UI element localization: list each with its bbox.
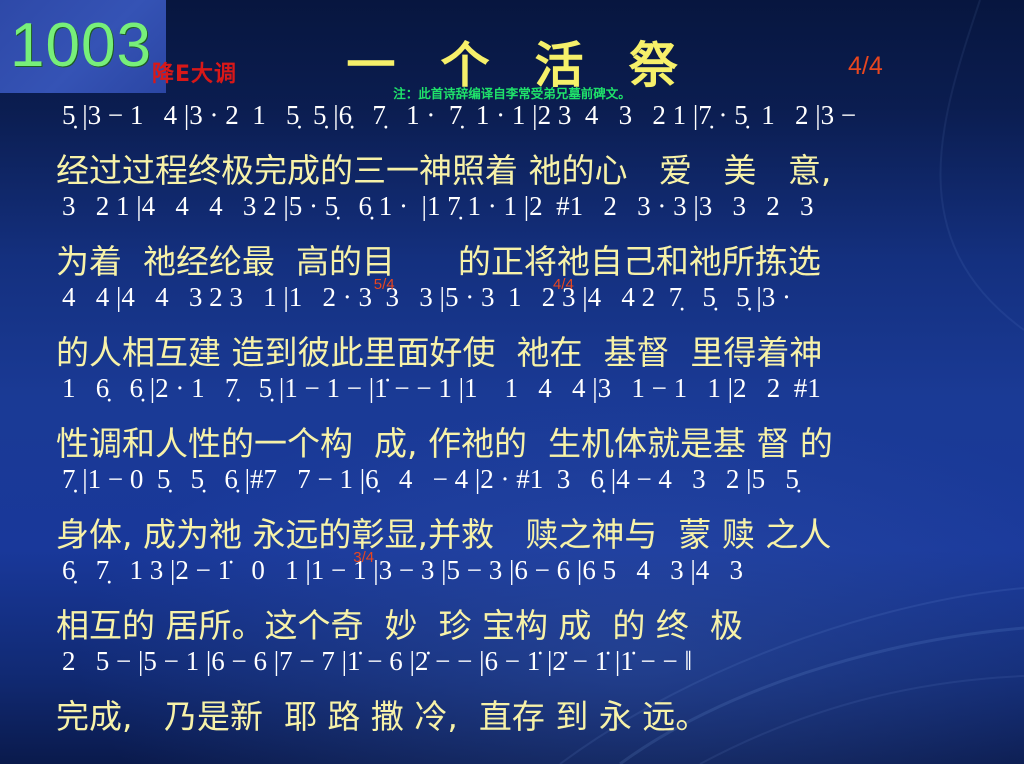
music-system: 6̣ 7̣ 1 3 |2 − 1̇ 0 1 |1 − 1 |3 − 3 |5 −… [0, 555, 1024, 646]
lyric-line: 完成, 乃是新 耶 路 撒 冷, 直存 到 永 远。 [0, 690, 1024, 737]
music-system: 3 2 1 |4 4 4 3 2 |5 · 5̣ 6̣ 1 · |1 7̣ 1 … [0, 191, 1024, 282]
lyric-line: 经过过程终极完成的三一神照着 祂的心 爱 美 意, [0, 144, 1024, 191]
meter-change-marker: 3/4 [353, 549, 374, 566]
lyric-line: 为着 祂经纶最 高的目 的正将祂自己和祂所拣选 [0, 235, 1024, 282]
notation-line: 7̣ |1 − 0 5̣ 5̣ 6̣ |#7 7 − 1 |6̣ 4 − 4 |… [0, 464, 1024, 508]
music-system: 7̣ |1 − 0 5̣ 5̣ 6̣ |#7 7 − 1 |6̣ 4 − 4 |… [0, 464, 1024, 555]
notation-line: 2 5 − |5 − 1 |6 − 6 |7 − 7 |1̇ − 6 |2̇ −… [0, 646, 1024, 690]
lyric-line: 身体, 成为祂 永远的彰显,并救 赎之神与 蒙 赎 之人 [0, 508, 1024, 555]
meter-change-marker: 5/4 [374, 276, 395, 293]
music-systems: 5̣ |3 − 1 4 |3 · 2 1 5̣ 5̣ |6̣ 7̣ 1 · 7̣… [0, 100, 1024, 737]
notation-line: 5̣ |3 − 1 4 |3 · 2 1 5̣ 5̣ |6̣ 7̣ 1 · 7̣… [0, 100, 1024, 144]
meter-change-marker: 4/4 [553, 276, 574, 293]
music-system: 4 4 |4 4 3 2 3 1 |1 2 · 3 3 3 |5 · 3 1 2… [0, 282, 1024, 373]
lyric-line: 的人相互建 造到彼此里面好使 祂在 基督 里得着神 [0, 326, 1024, 373]
notation-line: 1 6̣ 6̣ |2 · 1 7̣ 5̣ |1 − 1 − |1̇ − − 1 … [0, 373, 1024, 417]
lyric-line: 性调和人性的一个构 成, 作祂的 生机体就是基 督 的 [0, 417, 1024, 464]
music-system: 5̣ |3 − 1 4 |3 · 2 1 5̣ 5̣ |6̣ 7̣ 1 · 7̣… [0, 100, 1024, 191]
hymn-slide: 1003 降E大调 一 个 活 祭 注：此首诗辞编译自李常受弟兄墓前碑文。 4/… [0, 0, 1024, 764]
time-signature: 4/4 [848, 52, 883, 81]
lyric-line: 相互的 居所。这个奇 妙 珍 宝构 成 的 终 极 [0, 599, 1024, 646]
notation-line: 6̣ 7̣ 1 3 |2 − 1̇ 0 1 |1 − 1 |3 − 3 |5 −… [0, 555, 1024, 599]
music-system: 2 5 − |5 − 1 |6 − 6 |7 − 7 |1̇ − 6 |2̇ −… [0, 646, 1024, 737]
music-system: 1 6̣ 6̣ |2 · 1 7̣ 5̣ |1 − 1 − |1̇ − − 1 … [0, 373, 1024, 464]
notation-line: 4 4 |4 4 3 2 3 1 |1 2 · 3 3 3 |5 · 3 1 2… [0, 282, 1024, 326]
notation-line: 3 2 1 |4 4 4 3 2 |5 · 5̣ 6̣ 1 · |1 7̣ 1 … [0, 191, 1024, 235]
